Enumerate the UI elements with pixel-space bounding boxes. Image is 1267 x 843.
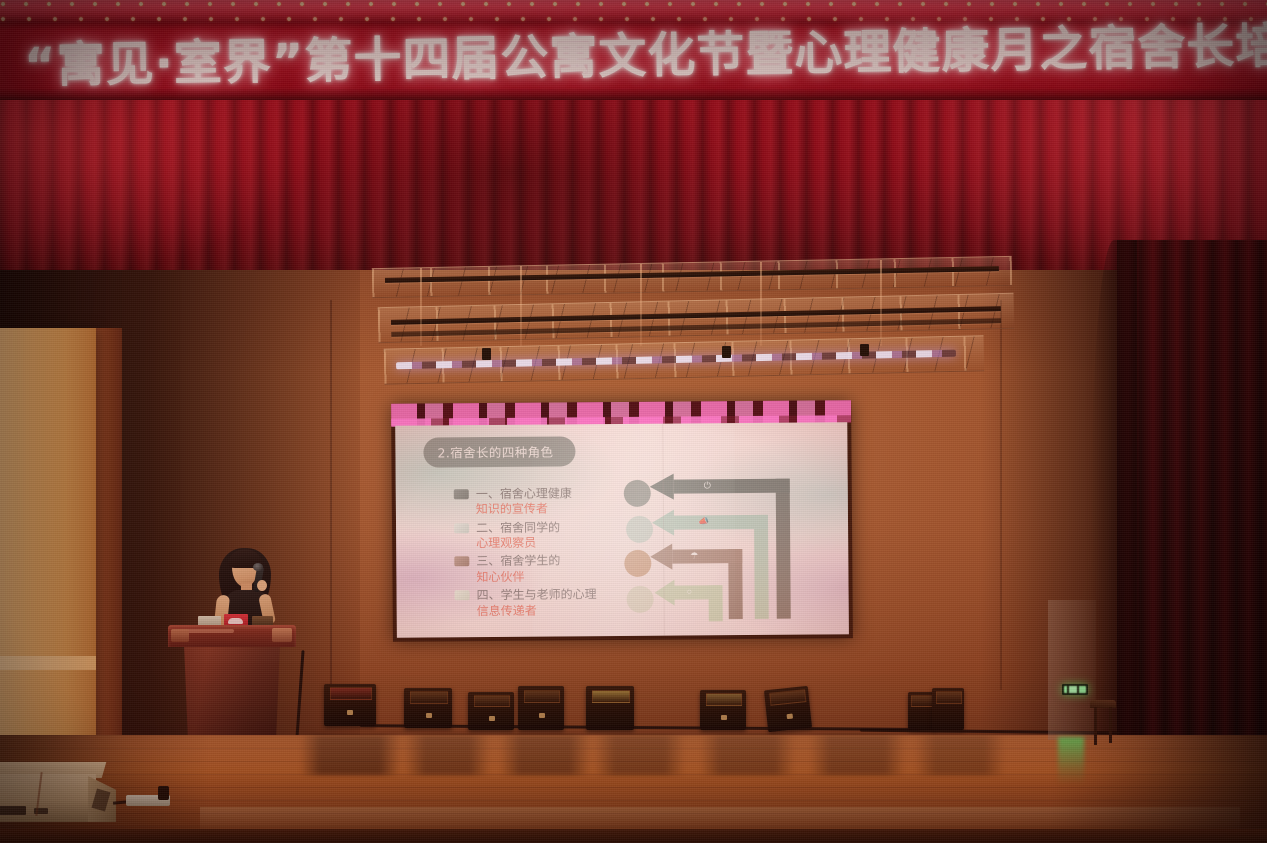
acoustic-pillar-front (0, 328, 96, 778)
speaker-led (539, 713, 545, 718)
bullet-square-icon (454, 489, 469, 499)
speaker-grille (592, 690, 630, 703)
diagram-dot (624, 480, 651, 507)
chat-icon: ○ (687, 587, 693, 596)
podium-red-card-detail (228, 618, 243, 624)
slide-title: 2.宿舍长的四种角色 (423, 436, 575, 467)
umbrella-icon: ☂ (690, 551, 698, 560)
chair-leg (1109, 707, 1112, 743)
bullet-square-icon (454, 557, 469, 567)
megaphone-icon: 📣 (698, 517, 709, 526)
speaker-grille (330, 687, 372, 700)
chair-leg (1094, 707, 1097, 745)
speaker-grille (936, 691, 962, 704)
exit-sign-floor-reflection (1058, 737, 1084, 785)
speaker-led (786, 714, 792, 720)
presentation-slide: 2.宿舍长的四种角色 一、宿舍心理健康 知识的宣传者 二、宿舍同学的 心理观察员… (395, 422, 849, 638)
power-plug (158, 786, 169, 800)
stage-monitor-speaker (324, 684, 376, 726)
auditorium-stage-photo: “寓见·室界”第十四届公寓文化节暨心理健康月之宿舍长培训 (0, 0, 1267, 843)
diagram-dot (626, 516, 653, 543)
speaker-led (426, 713, 432, 718)
stage-light-fixture (722, 346, 731, 358)
truss-drop-rod (640, 264, 642, 346)
pillar-top-face (0, 656, 96, 670)
led-dot-row-upper (0, 1, 1267, 7)
speaker-grille (706, 693, 743, 705)
power-icon: ⏻ (704, 481, 711, 490)
stage-monitor-speaker (700, 690, 746, 730)
wedge-grille (0, 806, 26, 815)
exit-sign-glyph (1064, 686, 1086, 693)
stage-front-edge (0, 829, 1267, 843)
stage-monitor-speaker (404, 688, 452, 728)
bullet-square-icon (455, 590, 470, 600)
curtain-shadow (300, 100, 720, 280)
microphone-head (253, 563, 263, 571)
presenter-hand (257, 580, 267, 591)
speaker-led (721, 715, 727, 720)
exit-sign (1062, 684, 1088, 695)
projection-screen: 2.宿舍长的四种角色 一、宿舍心理健康 知识的宣传者 二、宿舍同学的 心理观察员… (391, 400, 853, 642)
led-banner: “寓见·室界”第十四届公寓文化节暨心理健康月之宿舍长培训 (0, 0, 1267, 105)
stage-light-fixture (860, 344, 869, 356)
speaker-led (347, 710, 353, 715)
stage-monitor-speaker (518, 686, 564, 730)
speaker-grille (474, 695, 511, 707)
diagram-dot (627, 586, 654, 613)
backstage-wall-panel (1048, 600, 1096, 740)
stage-light-fixture (482, 348, 491, 360)
truss-drop-rod (760, 262, 762, 346)
speaker-led (489, 716, 495, 721)
stage-curtain-right (1117, 240, 1267, 800)
podium-corner-right (272, 628, 292, 642)
speaker-grille (410, 691, 448, 703)
stage-monitor-speaker (764, 686, 812, 732)
slide-arrow-diagram: ⏻ 📣 ☂ (624, 472, 835, 624)
curtain-highlight-left (0, 100, 320, 280)
truss-drop-rod (520, 266, 522, 346)
speaker-grille (770, 690, 807, 707)
podium-corner-left (171, 629, 189, 642)
diagram-dot (624, 550, 651, 577)
speaker-grille (524, 690, 561, 703)
stage-monitor-speaker (932, 688, 964, 730)
stage-monitor-speaker (586, 686, 634, 730)
stage-wedge-monitor (0, 762, 118, 824)
diagram-arrow-4: ○ (663, 585, 721, 621)
truss-drop-rod (880, 260, 882, 346)
truss-drop-rod (420, 268, 422, 346)
bullet-square-icon (454, 523, 469, 533)
backstage-chair (1090, 700, 1116, 746)
acoustic-pillar-shadow (96, 328, 122, 778)
